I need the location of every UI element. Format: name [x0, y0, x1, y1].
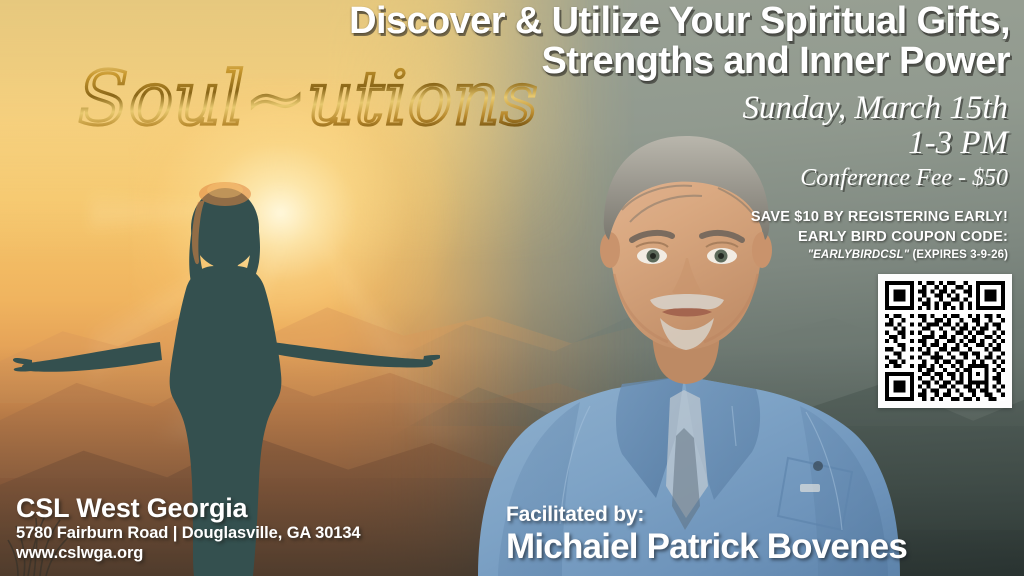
page-title: Discover & Utilize Your Spiritual Gifts,…	[174, 2, 1010, 81]
event-time: 1-3 PM	[488, 126, 1008, 162]
organization-name: CSL West Georgia	[16, 493, 446, 523]
headline-line-2: Strengths and Inner Power	[174, 42, 1010, 82]
coupon-code: "EARLYBIRDCSL"	[808, 249, 910, 261]
coupon-expiry: (EXPIRES 3-9-26)	[909, 249, 1008, 261]
organization-address: 5780 Fairburn Road | Douglasville, GA 30…	[16, 523, 446, 544]
early-bird-block: SAVE $10 BY REGISTERING EARLY! EARLY BIR…	[528, 208, 1008, 264]
early-bird-coupon-label: EARLY BIRD COUPON CODE:	[528, 228, 1008, 248]
qr-code[interactable]	[878, 274, 1012, 408]
organization-website[interactable]: www.cslwga.org	[16, 543, 446, 564]
facilitator-label: Facilitated by:	[506, 502, 1024, 527]
organization-block: CSL West Georgia 5780 Fairburn Road | Do…	[16, 493, 446, 564]
headline-line-1: Discover & Utilize Your Spiritual Gifts,	[174, 2, 1010, 42]
event-fee: Conference Fee - $50	[488, 161, 1008, 196]
facilitator-block: Facilitated by: Michaiel Patrick Bovenes	[506, 502, 1024, 566]
event-date: Sunday, March 15th	[488, 92, 1008, 126]
early-bird-coupon-code-line: "EARLYBIRDCSL" (EXPIRES 3-9-26)	[528, 247, 1008, 264]
event-schedule-block: Sunday, March 15th 1-3 PM Conference Fee…	[488, 92, 1008, 196]
early-bird-savings: SAVE $10 BY REGISTERING EARLY!	[528, 208, 1008, 228]
flyer-canvas: Soul~utions Discover & Utilize Your Spir…	[0, 0, 1024, 576]
facilitator-name: Michaiel Patrick Bovenes	[506, 527, 1024, 566]
